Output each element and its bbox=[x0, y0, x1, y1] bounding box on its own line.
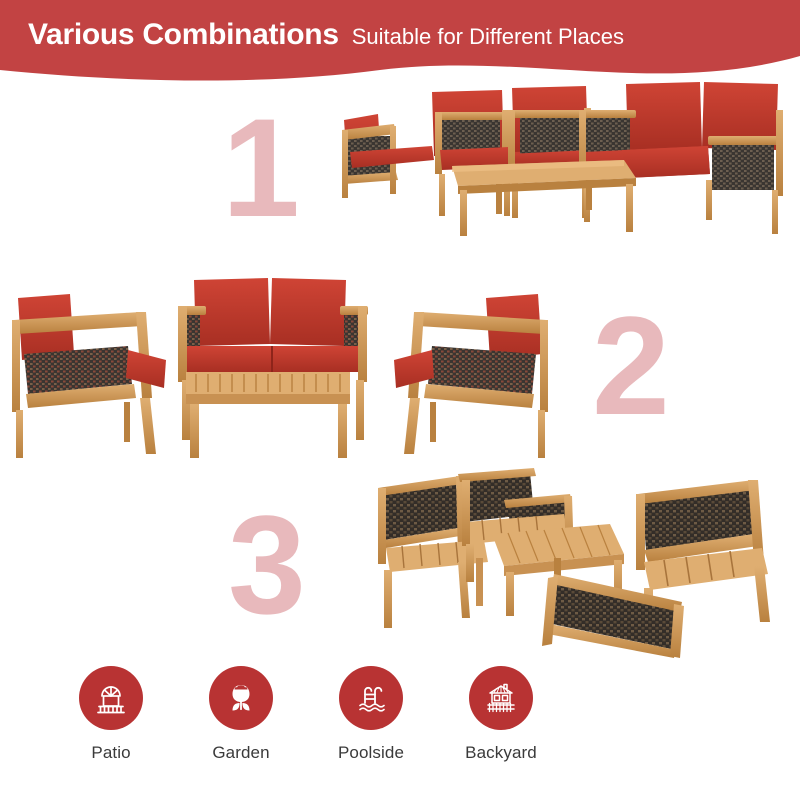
garden-tulip-icon bbox=[222, 679, 260, 717]
coffee-table bbox=[452, 160, 636, 236]
poolside-icon-circle bbox=[339, 666, 403, 730]
coffee-table bbox=[186, 372, 350, 458]
furniture-group-1 bbox=[336, 80, 800, 252]
furniture-group-3 bbox=[358, 462, 800, 658]
use-case-garden[interactable]: Garden bbox=[176, 666, 306, 784]
use-case-row: Patio Garden bbox=[46, 666, 566, 784]
combination-number-2: 2 bbox=[592, 296, 668, 436]
furniture-group-2 bbox=[0, 268, 560, 458]
loveseat bbox=[579, 82, 783, 234]
armchair bbox=[12, 294, 166, 458]
page-subtitle: Suitable for Different Places bbox=[352, 26, 624, 48]
combination-number-1: 1 bbox=[222, 98, 298, 238]
backyard-house-fence-icon bbox=[482, 679, 520, 717]
use-case-poolside[interactable]: Poolside bbox=[306, 666, 436, 784]
use-case-patio[interactable]: Patio bbox=[46, 666, 176, 784]
poolside-ladder-waves-icon bbox=[352, 679, 390, 717]
backyard-icon-circle bbox=[469, 666, 533, 730]
garden-icon-circle bbox=[209, 666, 273, 730]
use-case-backyard[interactable]: Backyard bbox=[436, 666, 566, 784]
patio-icon-circle bbox=[79, 666, 143, 730]
use-case-label: Poolside bbox=[338, 744, 404, 761]
combination-number-3: 3 bbox=[228, 495, 304, 635]
armchair bbox=[394, 294, 548, 458]
use-case-label: Backyard bbox=[465, 744, 537, 761]
use-case-label: Garden bbox=[212, 744, 269, 761]
use-case-label: Patio bbox=[91, 744, 130, 761]
armchair bbox=[342, 114, 434, 198]
product-feature-page: Various Combinations Suitable for Differ… bbox=[0, 0, 800, 800]
page-title: Various Combinations bbox=[28, 20, 339, 50]
patio-arch-window-icon bbox=[92, 679, 130, 717]
banner-text-block: Various Combinations Suitable for Differ… bbox=[28, 20, 624, 50]
